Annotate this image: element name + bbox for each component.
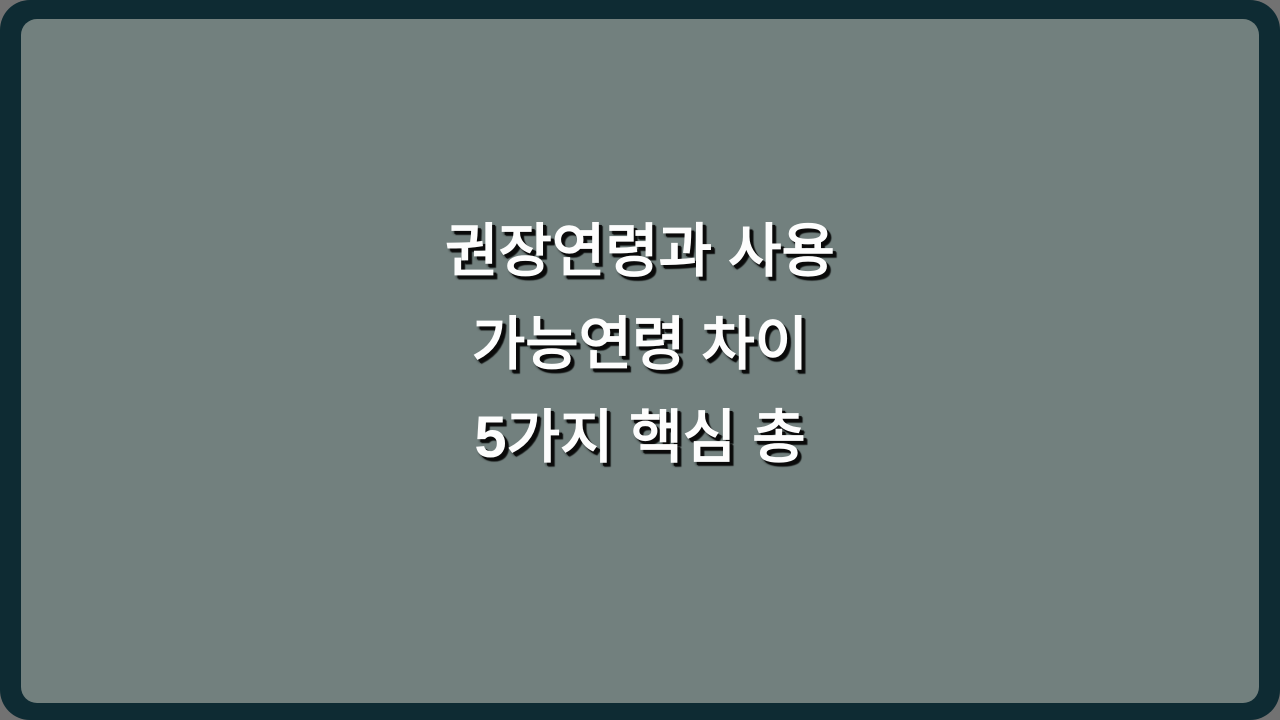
title-block: 권장연령과 사용 가능연령 차이 5가지 핵심 총 <box>21 205 1259 484</box>
title-line-3: 5가지 핵심 총 <box>21 391 1259 484</box>
title-line-1: 권장연령과 사용 <box>21 205 1259 298</box>
card-frame: 권장연령과 사용 가능연령 차이 5가지 핵심 총 <box>0 0 1280 720</box>
card-inner-panel: 권장연령과 사용 가능연령 차이 5가지 핵심 총 <box>21 19 1259 703</box>
thumbnail-canvas: 권장연령과 사용 가능연령 차이 5가지 핵심 총 <box>0 0 1280 720</box>
title-line-2: 가능연령 차이 <box>21 298 1259 391</box>
